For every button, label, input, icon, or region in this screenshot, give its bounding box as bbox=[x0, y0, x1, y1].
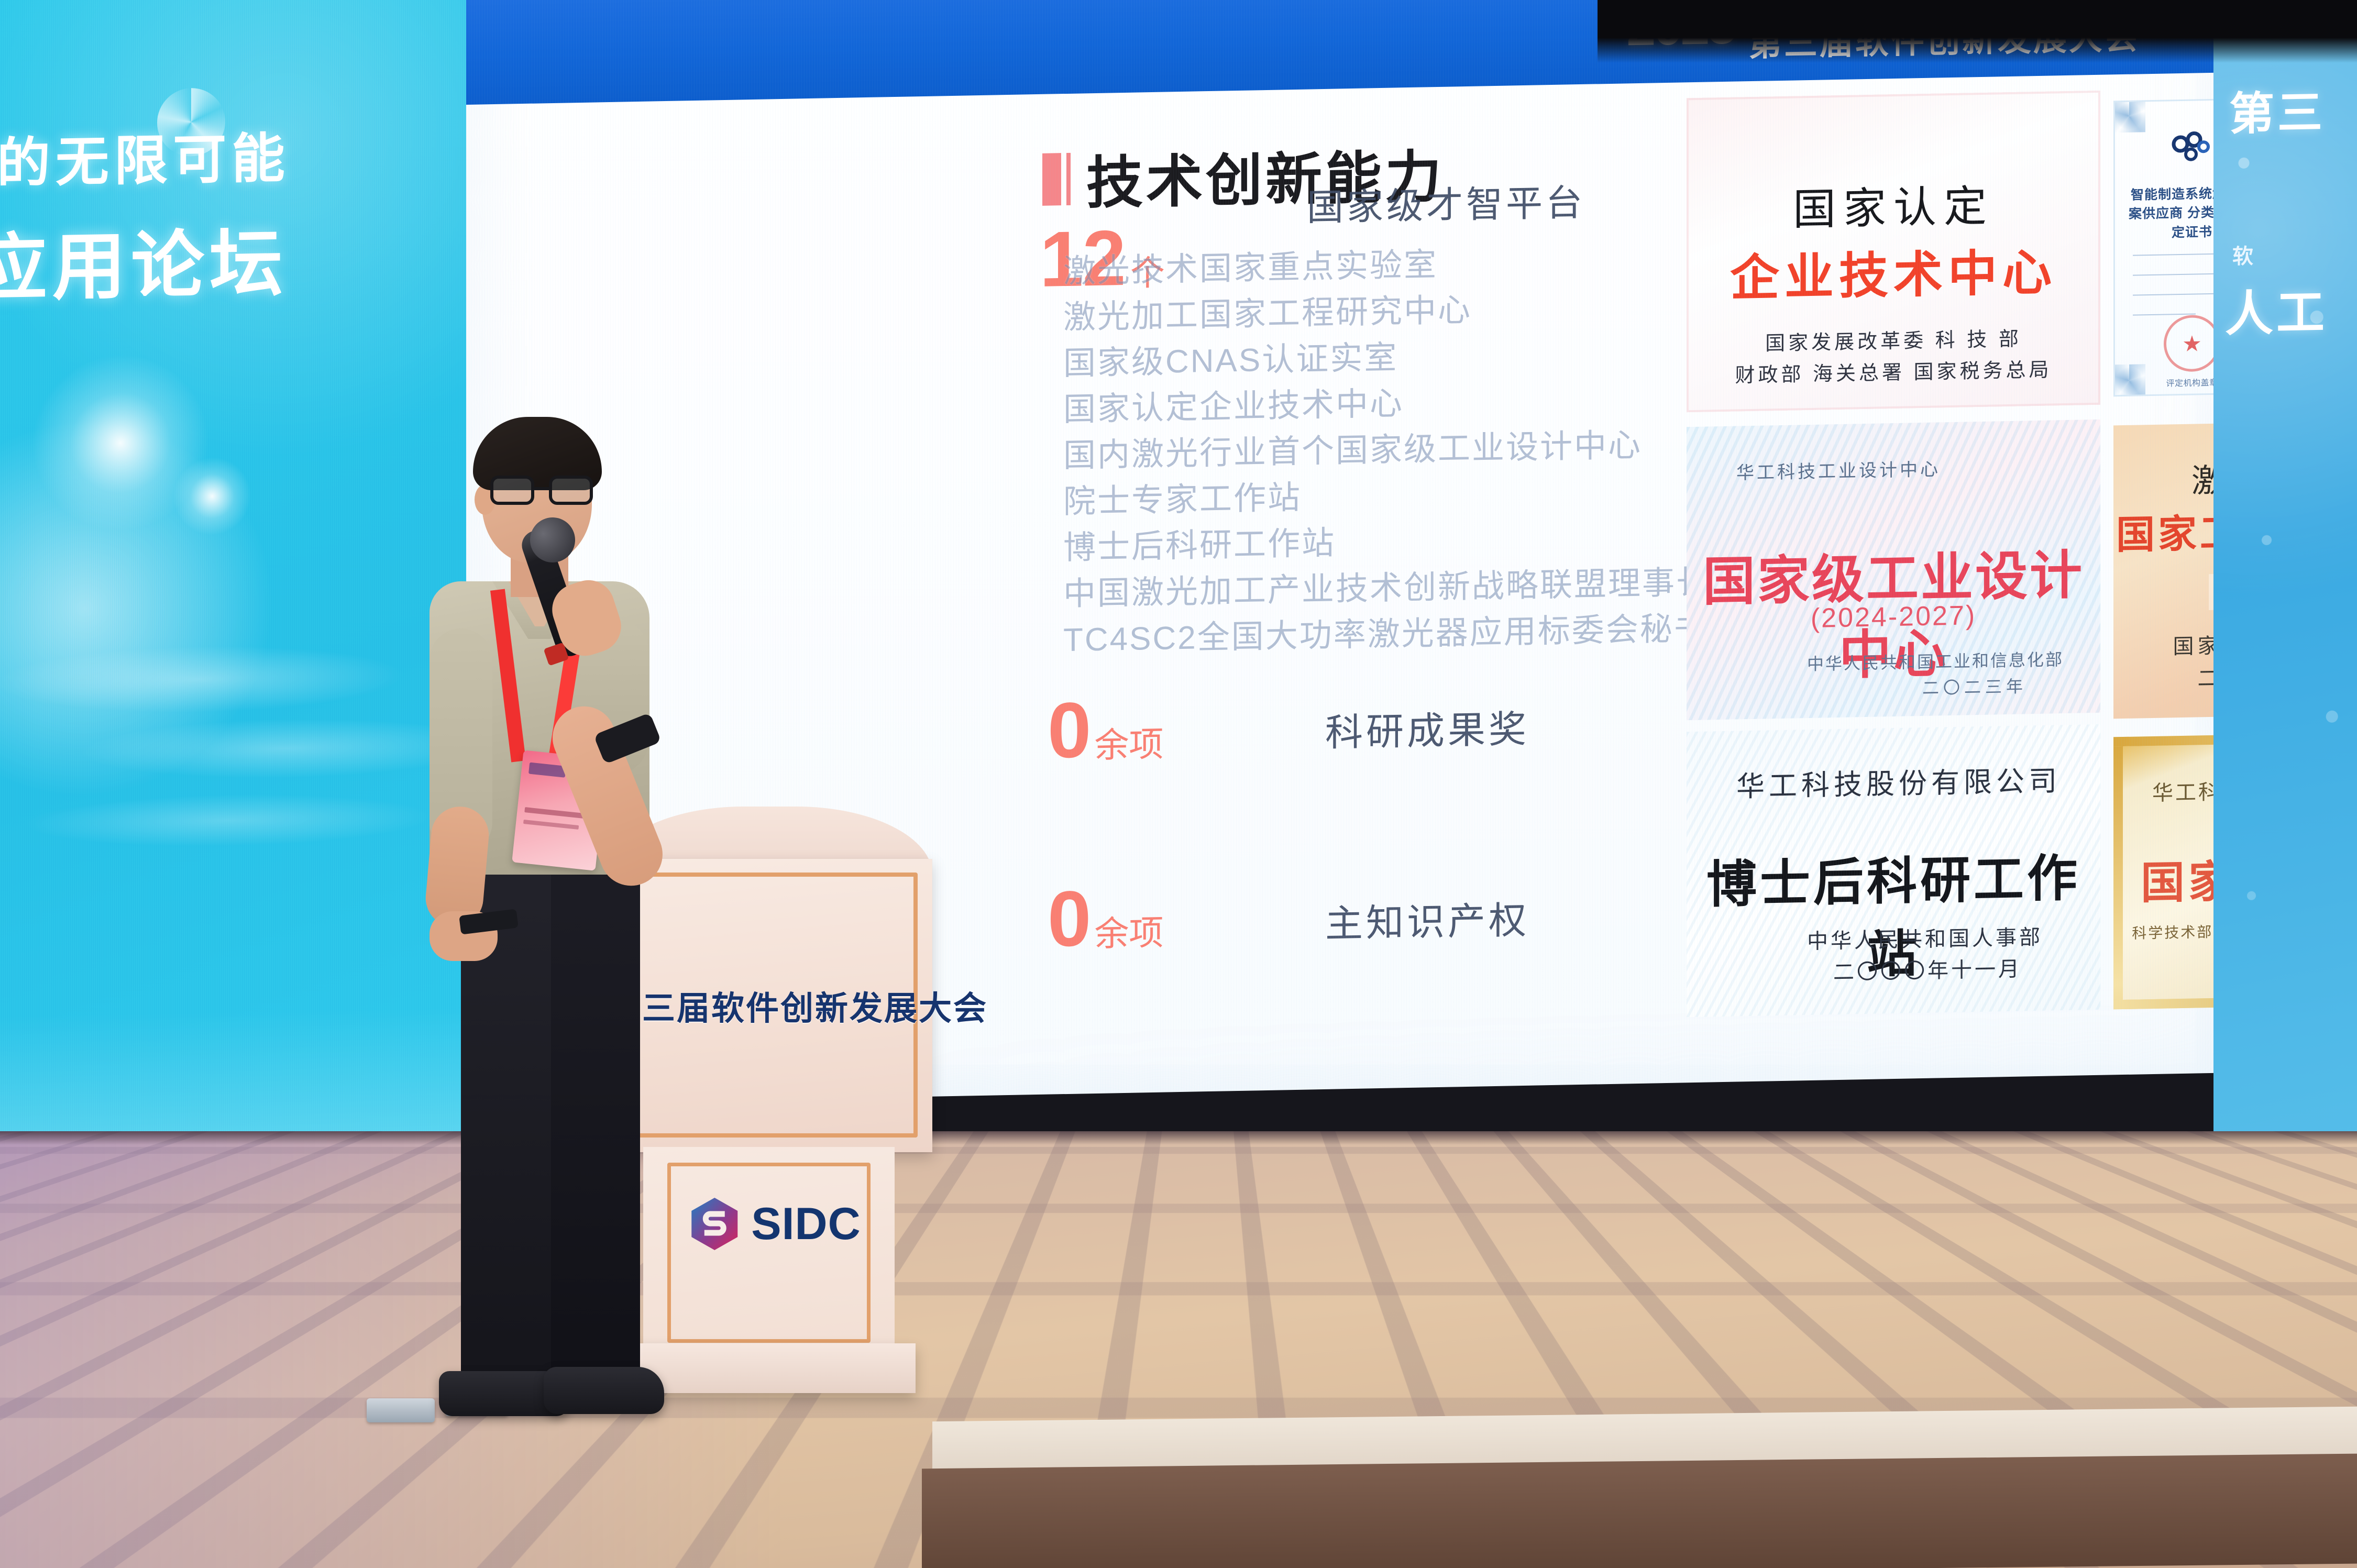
badge-text-line bbox=[523, 820, 579, 830]
certificate-collage: 国家认定 企业技术中心 国家发展改革委 科 技 部 财政部 海关总署 国家税务总… bbox=[1687, 79, 2221, 1020]
led-wall: 驱动的无限可能 新应用论坛 2025 智聚江城 数智领航 第三届软件创新发展大会 bbox=[0, 0, 2357, 1189]
official-seal-icon: ★ bbox=[2164, 315, 2220, 372]
cert-tech-line4: 财政部 海关总署 国家税务总局 bbox=[1687, 352, 2100, 389]
certificate-postdoc-station: 华工科技股份有限公司 博士后科研工作站 中华人民共和国人事部 二〇〇〇年十一月 bbox=[1687, 724, 2100, 1017]
kpi-ip: 0 余项 bbox=[1048, 878, 1163, 958]
title-accent-bars bbox=[1042, 153, 1071, 206]
cert-nerc-line2: 国家工程研究中心 bbox=[2113, 498, 2221, 560]
cert-tech-line1: 国家认定 bbox=[1687, 169, 2100, 239]
right-side-panel: 第三 软 人工 bbox=[2213, 28, 2357, 1141]
speaker-presenter bbox=[398, 408, 723, 1456]
certificate-tech-center: 国家认定 企业技术中心 国家发展改革委 科 技 部 财政部 海关总署 国家税务总… bbox=[1687, 91, 2100, 412]
certificate-nerc-plaque: 激光加工 国家工程研究中心 NERC 国家发展计划委员会 二〇〇一年十月 bbox=[2113, 419, 2221, 719]
sidc-wordmark: SIDC bbox=[751, 1198, 861, 1250]
cert-postdoc-company: 华工科技股份有限公司 bbox=[1736, 757, 2061, 804]
kpi-ip-label: 主知识产权 bbox=[1325, 889, 1529, 948]
cert-nerc-date: 二〇〇一年十月 bbox=[2113, 657, 2221, 693]
kpi-ip-value: 0 bbox=[1048, 879, 1090, 958]
snowflake-corner-icon bbox=[2113, 100, 2145, 132]
kpi-platforms-label: 国家级才智平台 bbox=[1307, 173, 1585, 231]
cert-design-date: 二〇二三年 bbox=[1922, 673, 2027, 699]
kpi-awards-label: 科研成果奖 bbox=[1325, 698, 1529, 757]
kpi-awards-value: 0 bbox=[1048, 690, 1090, 769]
glasses-bridge bbox=[533, 487, 549, 490]
right-panel-line1: 第三 bbox=[2229, 75, 2326, 142]
cert-nerc-issuer: 国家发展计划委员会 bbox=[2113, 624, 2221, 661]
cert-postdoc-issuer: 中华人民共和国人事部 bbox=[1807, 920, 2043, 955]
certificate-innovative-enterprise: 华工科技产业股份有限公司 国家创新型企业 科学技术部 国务院国资委 中华全国总工… bbox=[2113, 731, 2221, 1009]
cert-postdoc-date: 二〇〇〇年十一月 bbox=[1833, 952, 2022, 986]
cert-innov-company: 华工科技产业股份有限公司 bbox=[2152, 771, 2221, 807]
accent-bar-thin bbox=[1066, 153, 1071, 205]
cert-design-issuer: 中华人民共和国工业和信息化部 bbox=[1807, 646, 2064, 675]
kpi-awards-unit: 余项 bbox=[1094, 721, 1163, 769]
left-panel-line1: 驱动的无限可能 bbox=[0, 112, 471, 200]
right-panel-line2: 软 bbox=[2232, 239, 2255, 270]
stage-apron bbox=[922, 1454, 2357, 1568]
left-panel-line2: 新应用论坛 bbox=[0, 200, 471, 317]
cert-design-header: 华工科技工业设计中心 bbox=[1736, 455, 1941, 484]
form-rule bbox=[2133, 272, 2221, 275]
right-panel-line3: 人工 bbox=[2225, 273, 2328, 345]
speaker-shoe-right bbox=[544, 1367, 664, 1414]
form-rule bbox=[2133, 252, 2221, 256]
cert-smart-title: 智能制造系统解决方案供应商 分类分级评定证书 bbox=[2124, 183, 2221, 242]
speaker-glasses-icon bbox=[490, 476, 593, 506]
accent-bar-thick bbox=[1042, 153, 1061, 206]
glasses-lens-left bbox=[490, 476, 534, 505]
bubble-decoration bbox=[2213, 28, 2357, 1141]
ceiling-shadow-right bbox=[1598, 0, 2357, 63]
kpi-ip-unit: 余项 bbox=[1094, 910, 1163, 958]
conference-stage-photo: 驱动的无限可能 新应用论坛 2025 智聚江城 数智领航 第三届软件创新发展大会 bbox=[0, 0, 2357, 1568]
kpi-awards: 0 余项 bbox=[1048, 689, 1163, 770]
glasses-lens-right bbox=[549, 476, 593, 505]
form-rule bbox=[2133, 292, 2221, 295]
gear-logo-icon bbox=[2169, 131, 2215, 164]
cert-tech-line3: 国家发展改革委 科 技 部 bbox=[1687, 321, 2100, 357]
cert-tech-line2: 企业技术中心 bbox=[1687, 232, 2100, 311]
cert-smart-footer: 评定机构盖章 bbox=[2123, 374, 2221, 390]
certificate-smart-manufacturing: 智能制造系统解决方案供应商 分类分级评定证书 ★ 评定机构盖章 bbox=[2113, 98, 2221, 396]
certificate-industrial-design: 华工科技工业设计中心 国家级工业设计中心 (2024-2027) 中华人民共和国… bbox=[1687, 419, 2100, 720]
speaker-leg-right bbox=[551, 859, 640, 1383]
stage-edge-shadow bbox=[0, 1131, 2357, 1145]
cert-nerc-line1: 激光加工 bbox=[2113, 449, 2221, 503]
